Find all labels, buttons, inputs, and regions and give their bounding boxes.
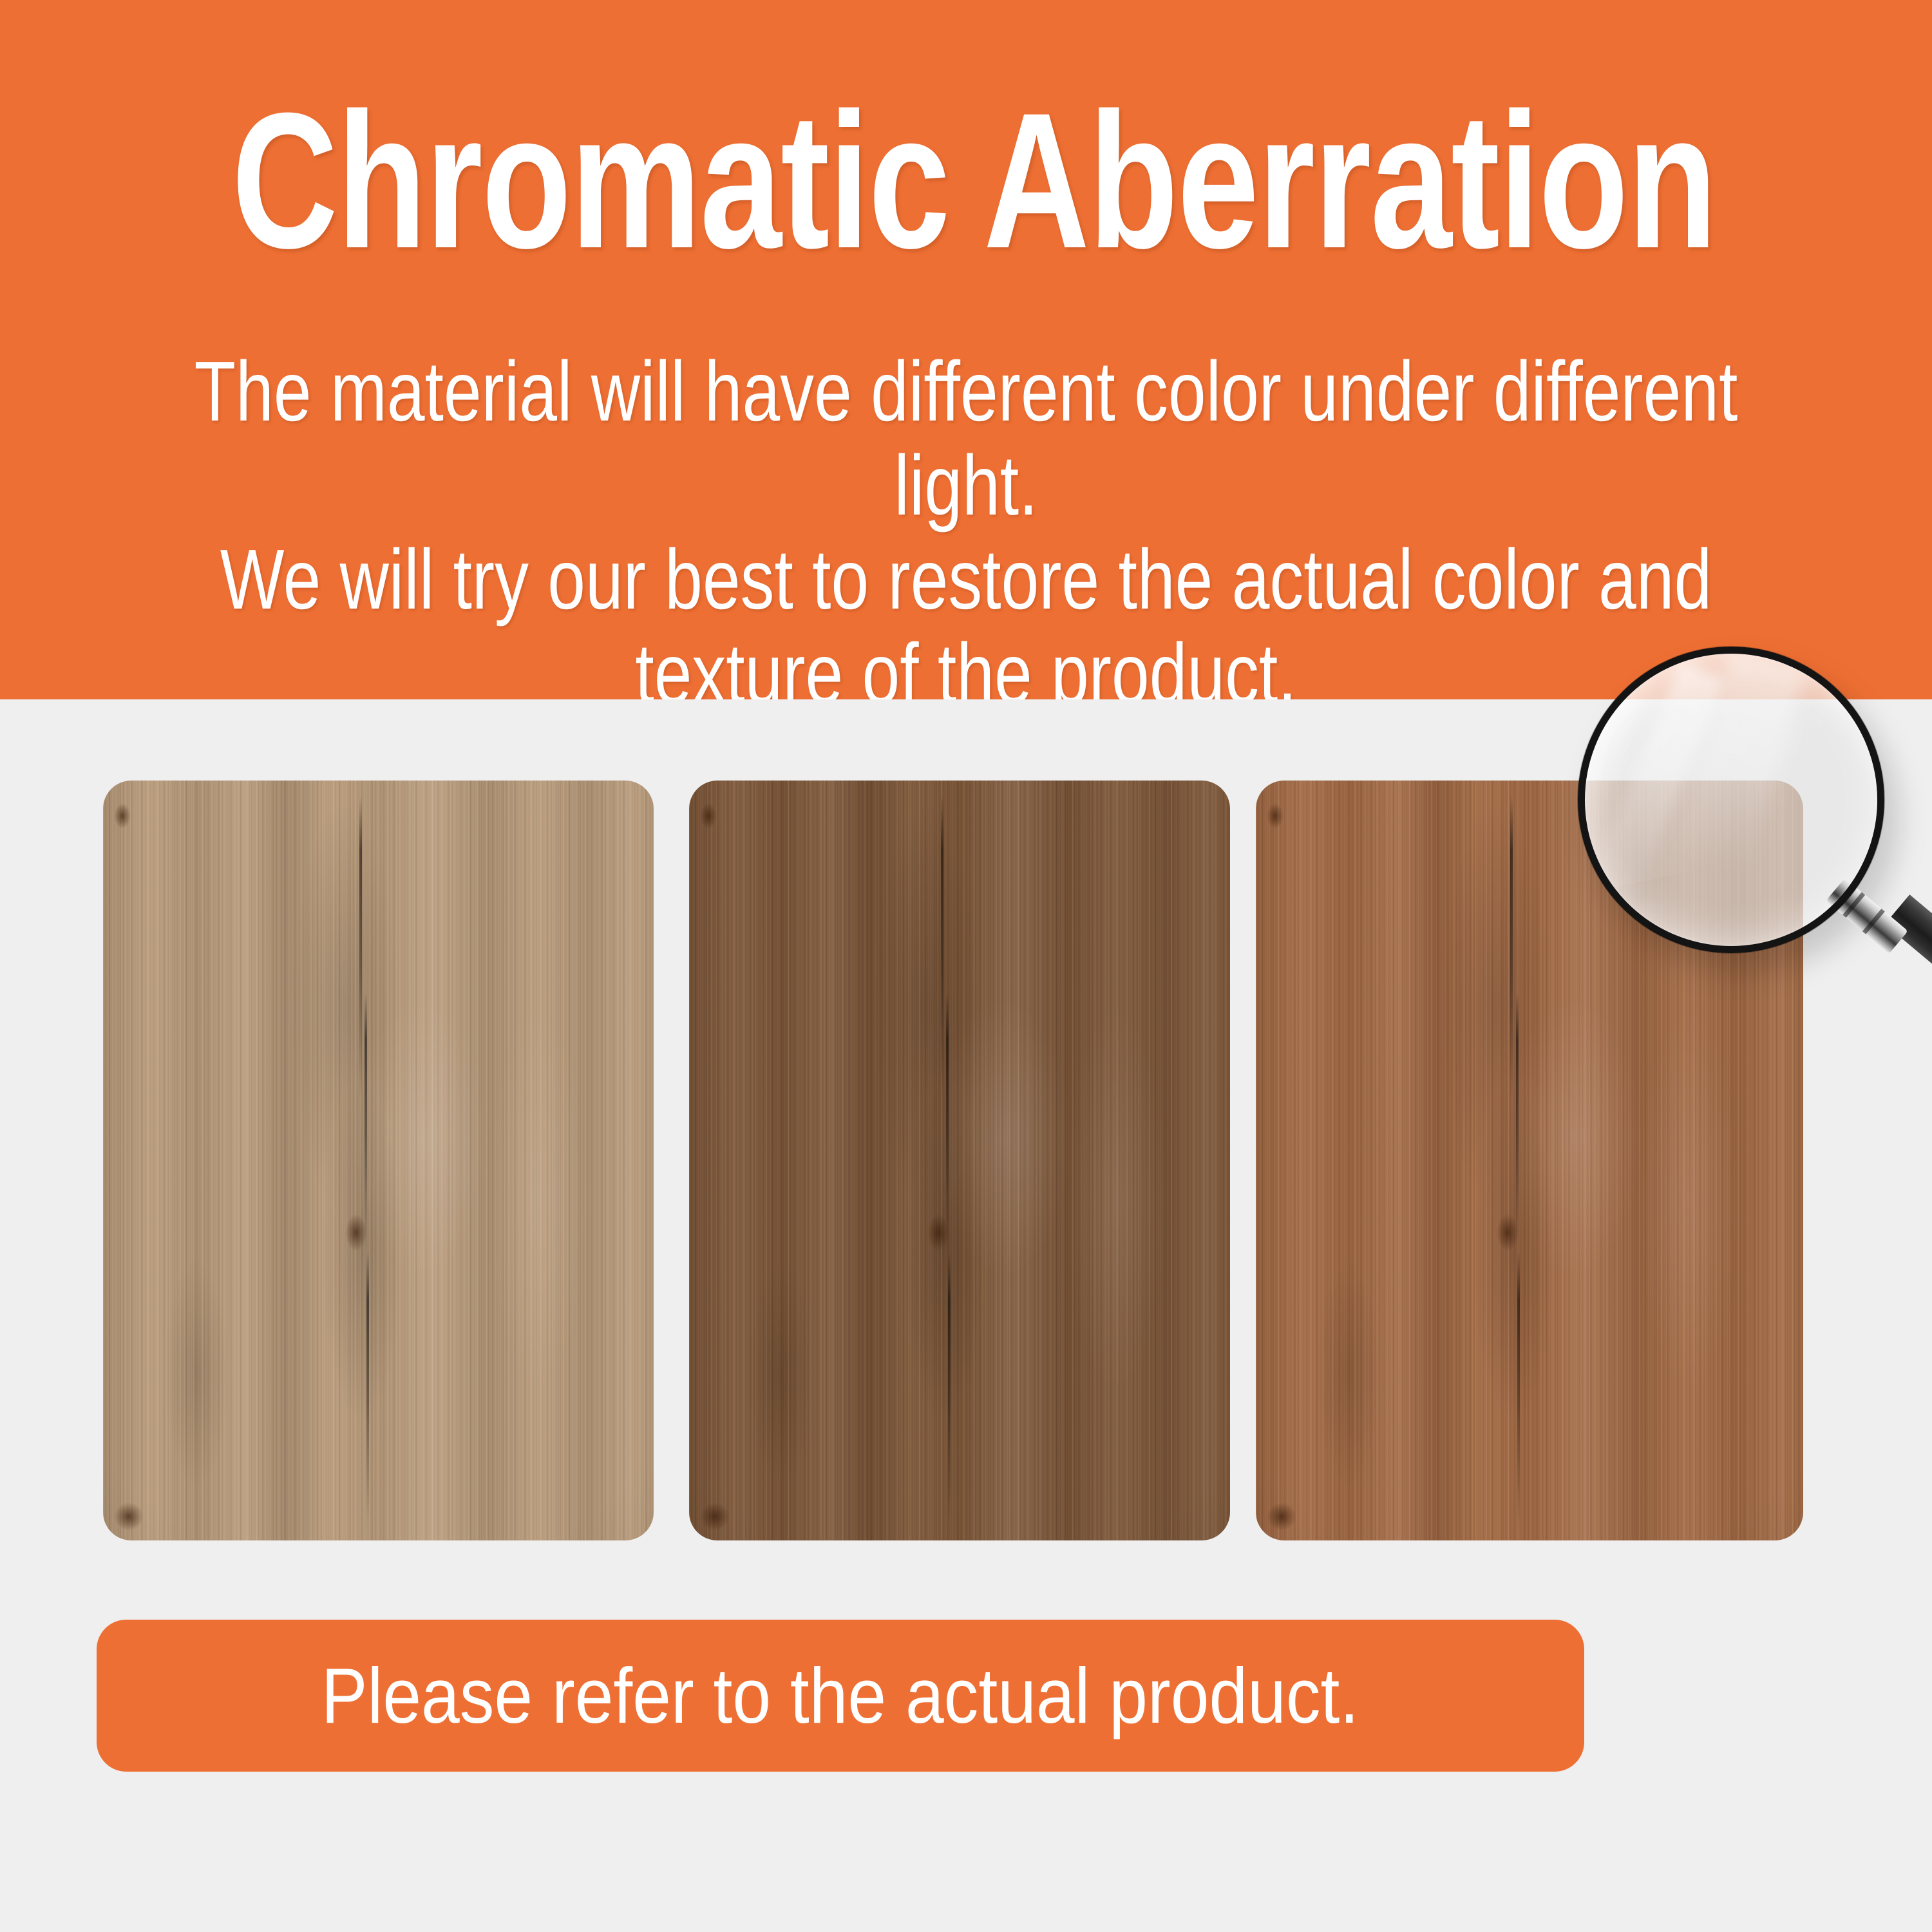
wood-vignette <box>103 781 654 1540</box>
wood-sample-panel-medium-walnut[interactable] <box>689 781 1230 1540</box>
header-subtitle: The material will have different color u… <box>193 345 1739 699</box>
wood-vignette <box>1256 781 1803 1540</box>
wood-sample-panel-light-oak[interactable] <box>103 781 654 1540</box>
header-band: Chromatic Aberration The material will h… <box>0 0 1932 699</box>
subtitle-line-1: The material will have different color u… <box>193 345 1739 533</box>
page-title: Chromatic Aberration <box>232 84 1700 277</box>
subtitle-line-2: We will try our best to restore the actu… <box>193 533 1739 627</box>
wood-sample-panel-red-cherry[interactable] <box>1256 781 1803 1540</box>
refer-to-actual-product-banner[interactable]: Please refer to the actual product. <box>97 1620 1584 1772</box>
wood-vignette <box>689 781 1230 1540</box>
subtitle-line-3: texture of the product. <box>193 627 1739 699</box>
cta-label: Please refer to the actual product. <box>321 1651 1359 1741</box>
